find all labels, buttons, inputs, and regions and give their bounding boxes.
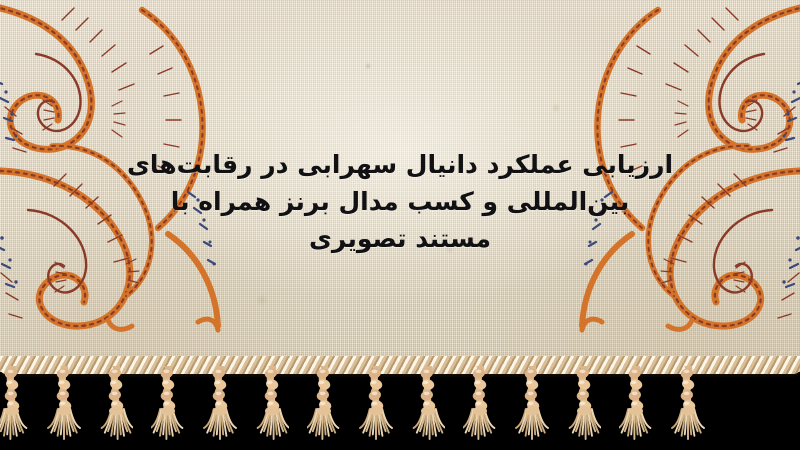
tassel [99, 366, 133, 446]
tassel [515, 366, 549, 446]
tassel [47, 366, 81, 446]
tassel [619, 366, 653, 446]
tassel [151, 366, 185, 446]
tassel [307, 366, 341, 446]
tassel [411, 366, 445, 446]
tassel [463, 366, 497, 446]
title-line-1: ارزیابی عملکرد دانیال سهرابی در رقابت‌ها… [0, 146, 800, 183]
title-line-3: مستند تصویری [0, 220, 800, 257]
tassel [0, 366, 29, 446]
tassel [359, 366, 393, 446]
tassel [567, 366, 601, 446]
tassel [255, 366, 289, 446]
tassel-fringe [0, 366, 800, 450]
page-title: ارزیابی عملکرد دانیال سهرابی در رقابت‌ها… [0, 146, 800, 257]
tassel [671, 366, 705, 446]
title-card: ارزیابی عملکرد دانیال سهرابی در رقابت‌ها… [0, 0, 800, 450]
tassel [203, 366, 237, 446]
title-line-2: بین‌المللی و کسب مدال برنز همراه با [0, 183, 800, 220]
